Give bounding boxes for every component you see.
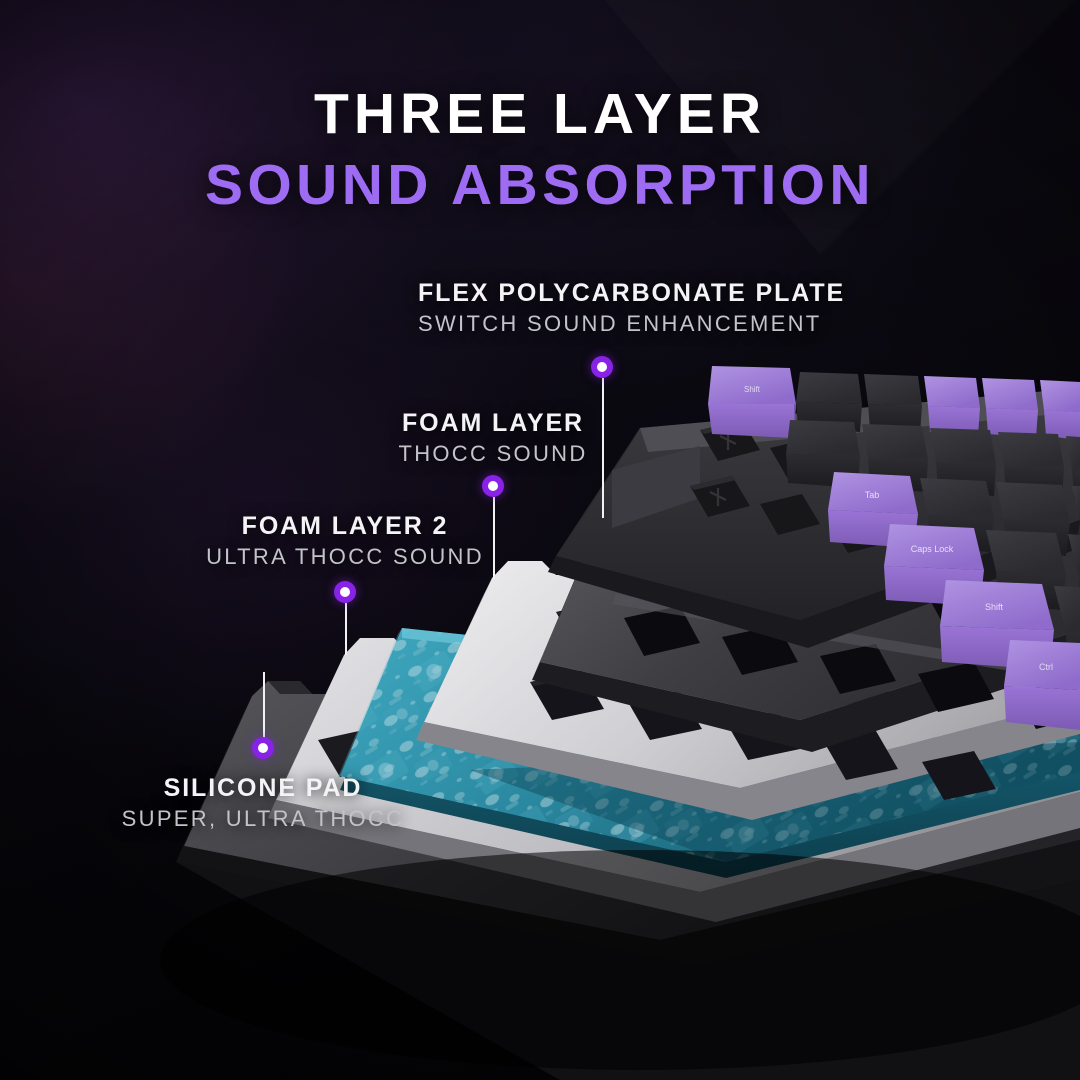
keycap-row-6: Ctrl	[1004, 640, 1080, 730]
keycap-lifted-purple: Shift	[708, 366, 796, 438]
callout-foam-layer-2: FOAM LAYER 2 ULTRA THOCC SOUND	[165, 513, 525, 570]
leader-line-silicone-pad	[263, 672, 265, 746]
callout-silicone-pad: SILICONE PAD SUPER, ULTRA THOCC	[83, 775, 443, 832]
callout-text-block: SILICONE PAD SUPER, ULTRA THOCC	[83, 775, 443, 832]
marker-dot-flex-plate[interactable]	[591, 356, 613, 378]
svg-text:Ctrl: Ctrl	[1039, 662, 1053, 672]
callout-title: FLEX POLYCARBONATE PLATE	[418, 280, 786, 307]
callout-title: SILICONE PAD	[83, 775, 443, 802]
svg-text:Caps Lock: Caps Lock	[911, 544, 954, 554]
infographic-canvas: Shift	[0, 0, 1080, 1080]
callout-subtitle: THOCC SOUND	[313, 442, 673, 467]
callout-flex-polycarbonate-plate: FLEX POLYCARBONATE PLATE SWITCH SOUND EN…	[418, 280, 786, 337]
callout-subtitle: ULTRA THOCC SOUND	[165, 545, 525, 570]
marker-dot-foam-layer[interactable]	[482, 475, 504, 497]
callout-text-block: FLEX POLYCARBONATE PLATE SWITCH SOUND EN…	[418, 280, 786, 337]
headline-line-2: SOUND ABSORPTION	[0, 157, 1080, 214]
callout-text-block: FOAM LAYER THOCC SOUND	[313, 410, 673, 467]
headline-line-1: THREE LAYER	[0, 86, 1080, 143]
callout-title: FOAM LAYER	[313, 410, 673, 437]
headline-block: THREE LAYER SOUND ABSORPTION	[0, 86, 1080, 214]
leader-line-foam-layer-2	[345, 603, 347, 655]
svg-text:Tab: Tab	[865, 490, 880, 500]
marker-dot-silicone-pad[interactable]	[252, 737, 274, 759]
callout-foam-layer: FOAM LAYER THOCC SOUND	[313, 410, 673, 467]
svg-text:Shift: Shift	[985, 602, 1004, 612]
marker-dot-foam-layer-2[interactable]	[334, 581, 356, 603]
callout-subtitle: SWITCH SOUND ENHANCEMENT	[418, 312, 786, 337]
callout-text-block: FOAM LAYER 2 ULTRA THOCC SOUND	[165, 513, 525, 570]
svg-text:Shift: Shift	[744, 385, 761, 394]
callout-title: FOAM LAYER 2	[165, 513, 525, 540]
callout-subtitle: SUPER, ULTRA THOCC	[83, 807, 443, 832]
